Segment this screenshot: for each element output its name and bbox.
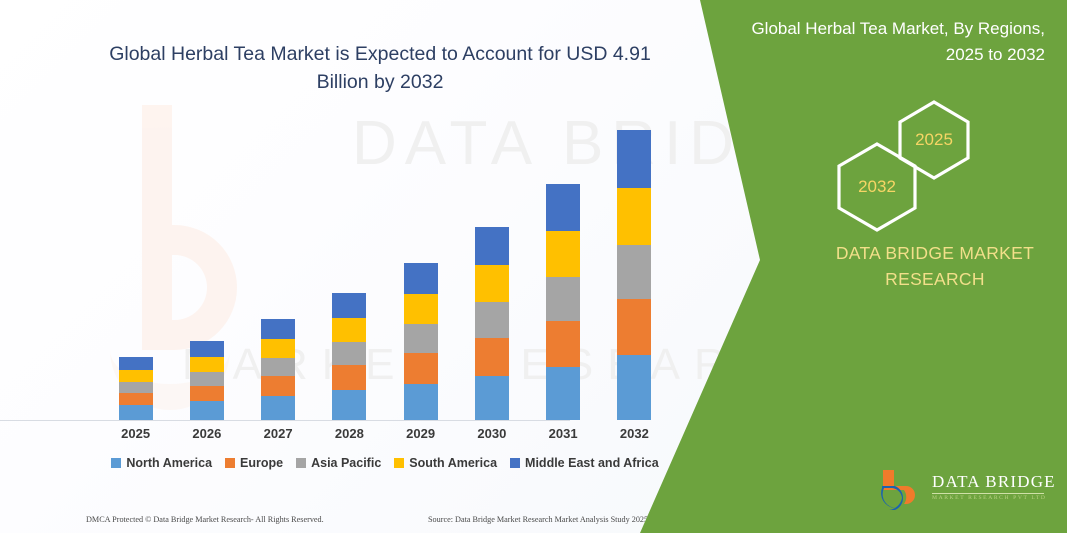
footer-copyright: DMCA Protected © Data Bridge Market Rese…	[86, 515, 324, 524]
bar-segment	[119, 393, 153, 405]
panel-title: Global Herbal Tea Market, By Regions, 20…	[745, 16, 1045, 68]
x-axis-label: 2031	[531, 426, 595, 441]
bar-segment	[332, 342, 366, 365]
logo-wordmark: DATA BRIDGE	[932, 472, 1056, 492]
legend-label: Asia Pacific	[311, 456, 381, 470]
legend-swatch	[111, 458, 121, 468]
stacked-bar	[546, 184, 580, 420]
hexagon-2025: 2025	[895, 98, 973, 182]
legend-swatch	[394, 458, 404, 468]
x-axis-label: 2029	[389, 426, 453, 441]
bar-segment	[475, 265, 509, 302]
hexagon-2032-label: 2032	[858, 177, 896, 197]
hexagon-2025-label: 2025	[915, 130, 953, 150]
bar-column	[531, 120, 595, 420]
chart-title: Global Herbal Tea Market is Expected to …	[95, 40, 665, 96]
bar-segment	[546, 367, 580, 420]
bar-segment	[404, 263, 438, 294]
bar-segment	[332, 293, 366, 318]
legend-swatch	[296, 458, 306, 468]
bar-segment	[332, 318, 366, 342]
bar-segment	[617, 245, 651, 299]
legend-label: Europe	[240, 456, 283, 470]
bar-segment	[190, 357, 224, 372]
data-bridge-logo: DATA BRIDGE MARKET RESEARCH PVT LTD	[878, 466, 1048, 514]
bar-segment	[546, 184, 580, 231]
bar-segment	[546, 277, 580, 321]
bar-segment	[261, 396, 295, 420]
legend-swatch	[510, 458, 520, 468]
stacked-bar	[332, 293, 366, 420]
footer-source: Source: Data Bridge Market Research Mark…	[428, 515, 648, 524]
bar-segment	[261, 319, 295, 339]
logo-tagline: MARKET RESEARCH PVT LTD	[932, 495, 1047, 501]
bar-segment	[404, 384, 438, 420]
bar-segment	[190, 372, 224, 386]
bar-segment	[475, 338, 509, 376]
bar-segment	[119, 382, 153, 393]
bar-segment	[617, 130, 651, 188]
bar-segment	[475, 376, 509, 420]
bar-segment	[617, 355, 651, 420]
legend-item: Asia Pacific	[296, 456, 381, 470]
bar-segment	[404, 324, 438, 353]
brand-name: DATA BRIDGE MARKET RESEARCH	[800, 240, 1067, 292]
legend-label: South America	[409, 456, 497, 470]
legend-item: Middle East and Africa	[510, 456, 659, 470]
chart-plot-area	[100, 120, 670, 420]
legend-item: Europe	[225, 456, 283, 470]
bar-segment	[332, 365, 366, 390]
chart-legend: North AmericaEuropeAsia PacificSouth Ame…	[100, 456, 670, 470]
bar-segment	[617, 299, 651, 355]
x-axis-label: 2030	[460, 426, 524, 441]
bar-segment	[332, 390, 366, 420]
x-axis-label: 2032	[602, 426, 666, 441]
db-logo-mark-icon	[878, 468, 926, 512]
bar-segment	[119, 405, 153, 420]
bar-segment	[404, 294, 438, 324]
bar-segment	[190, 386, 224, 401]
bar-segment	[261, 358, 295, 376]
bar-segment	[546, 321, 580, 367]
bar-column	[246, 120, 310, 420]
bar-column	[389, 120, 453, 420]
stacked-bar	[617, 130, 651, 420]
logo-divider	[932, 493, 1044, 494]
stacked-bar	[119, 357, 153, 420]
stacked-bar	[261, 319, 295, 420]
bar-column	[175, 120, 239, 420]
bar-segment	[190, 341, 224, 357]
chart-panel: DATA BRIDGE MARKET RESEARCH Global Herba…	[0, 0, 760, 533]
bar-segment	[190, 401, 224, 420]
x-axis-label: 2027	[246, 426, 310, 441]
bar-segment	[119, 357, 153, 370]
legend-item: South America	[394, 456, 497, 470]
legend-swatch	[225, 458, 235, 468]
bar-segment	[617, 188, 651, 245]
bar-segment	[261, 339, 295, 358]
legend-item: North America	[111, 456, 212, 470]
bar-segment	[546, 231, 580, 277]
x-axis-label: 2028	[317, 426, 381, 441]
bar-segment	[261, 376, 295, 396]
bar-segment	[475, 302, 509, 338]
bar-column	[460, 120, 524, 420]
bar-segment	[475, 227, 509, 265]
legend-label: North America	[126, 456, 212, 470]
stacked-bar	[190, 341, 224, 420]
x-axis-label: 2025	[104, 426, 168, 441]
legend-label: Middle East and Africa	[525, 456, 659, 470]
x-axis-labels: 20252026202720282029203020312032	[100, 426, 670, 441]
infographic-root: DATA BRIDGE MARKET RESEARCH Global Herba…	[0, 0, 1067, 533]
bar-segment	[404, 353, 438, 384]
bar-column	[602, 120, 666, 420]
bar-column	[104, 120, 168, 420]
bar-segment	[119, 370, 153, 382]
x-axis-label: 2026	[175, 426, 239, 441]
stacked-bar-chart	[100, 120, 670, 420]
x-axis-line	[0, 420, 570, 421]
stacked-bar	[404, 263, 438, 420]
bar-column	[317, 120, 381, 420]
stacked-bar	[475, 227, 509, 420]
